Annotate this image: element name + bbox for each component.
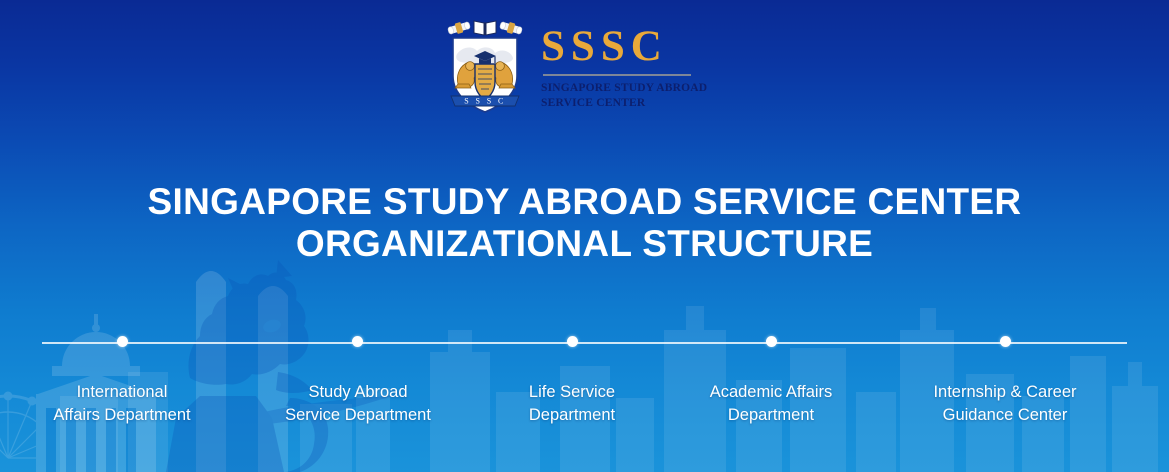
- department-labels: InternationalAffairs DepartmentStudy Abr…: [0, 381, 1169, 441]
- logo-subtitle-line-2: SERVICE CENTER: [541, 97, 645, 109]
- dept-label-line-1: International: [53, 381, 190, 404]
- page-title-line-1: SINGAPORE STUDY ABROAD SERVICE CENTER: [0, 181, 1169, 223]
- logo-text-block: SSSC SINGAPORE STUDY ABROAD SERVICE CENT…: [541, 21, 707, 110]
- dept-label-line-1: Academic Affairs: [710, 381, 833, 404]
- logo-acronym: SSSC: [541, 25, 707, 68]
- crest-ribbon-text: S S S C: [464, 96, 505, 105]
- page-title: SINGAPORE STUDY ABROAD SERVICE CENTER OR…: [0, 181, 1169, 265]
- timeline-node-3[interactable]: [567, 336, 578, 347]
- dept-label-study-abroad-service-department[interactable]: Study AbroadService Department: [285, 381, 431, 428]
- timeline-node-2[interactable]: [352, 336, 363, 347]
- dept-label-internship-career-guidance-center[interactable]: Internship & CareerGuidance Center: [933, 381, 1076, 428]
- timeline-node-1[interactable]: [117, 336, 128, 347]
- dept-label-line-2: Service Department: [285, 404, 431, 427]
- dept-label-life-service-department[interactable]: Life ServiceDepartment: [529, 381, 615, 428]
- dept-label-line-1: Study Abroad: [285, 381, 431, 404]
- dept-label-academic-affairs-department[interactable]: Academic AffairsDepartment: [710, 381, 833, 428]
- page-title-line-2: ORGANIZATIONAL STRUCTURE: [0, 223, 1169, 265]
- dept-label-line-1: Life Service: [529, 381, 615, 404]
- timeline-node-4[interactable]: [766, 336, 777, 347]
- sssc-logo-lockup: S S S C SSSC SINGAPORE STUDY ABROAD SERV…: [443, 18, 707, 114]
- logo-subtitle: SINGAPORE STUDY ABROAD SERVICE CENTER: [541, 81, 707, 110]
- crest-ribbon: S S S C: [451, 96, 519, 106]
- sssc-shield-crest-icon: S S S C: [443, 18, 527, 114]
- dept-label-line-2: Affairs Department: [53, 404, 190, 427]
- organizational-structure-banner: S S S C SSSC SINGAPORE STUDY ABROAD SERV…: [0, 0, 1169, 472]
- dept-label-line-1: Internship & Career: [933, 381, 1076, 404]
- dept-label-line-2: Guidance Center: [933, 404, 1076, 427]
- dept-label-line-2: Department: [529, 404, 615, 427]
- logo-divider-rule: [543, 74, 691, 76]
- timeline-node-5[interactable]: [1000, 336, 1011, 347]
- department-timeline: [42, 336, 1127, 350]
- crest-top-ornaments: [447, 20, 523, 36]
- logo-subtitle-line-1: SINGAPORE STUDY ABROAD: [541, 82, 707, 94]
- dept-label-line-2: Department: [710, 404, 833, 427]
- dept-label-international-affairs-department[interactable]: InternationalAffairs Department: [53, 381, 190, 428]
- timeline-rail: [42, 342, 1127, 344]
